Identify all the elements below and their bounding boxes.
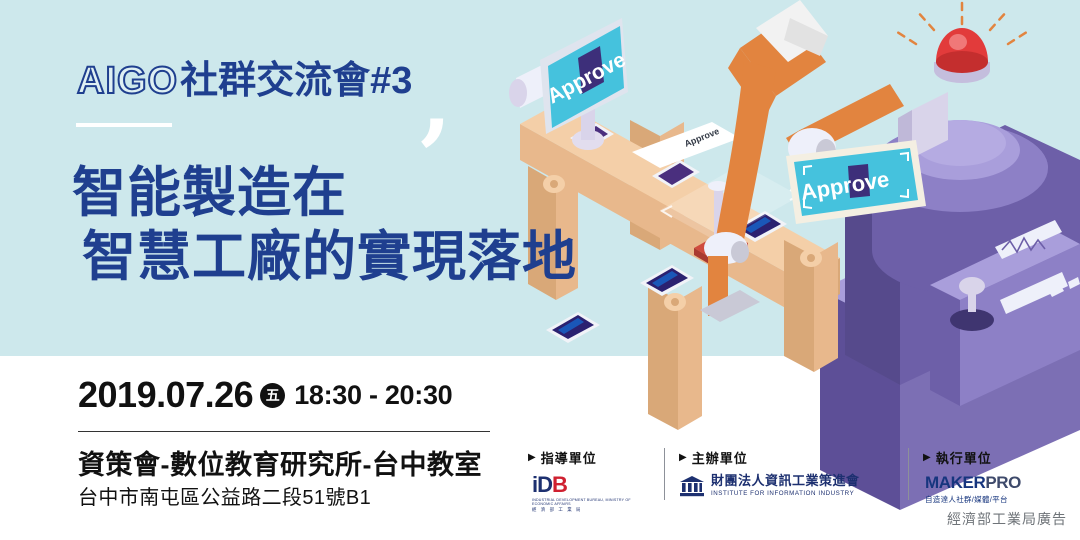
sponsor-group-executor: ▶ 執行單位 MAKERPRO 自造達人社群/媒體/平台 [923,448,1073,505]
page-title: 智能製造在 智慧工廠的實現落地 [72,162,577,289]
iii-name-cn: 財團法人資訊工業策進會 [711,474,860,488]
idb-wordmark: i D B [532,474,567,496]
sponsor-role-label: 指導單位 [541,448,597,467]
series-title-cjk: 社群交流會#3 [180,62,412,100]
event-weekday-badge: 五 [260,383,285,408]
idb-letter-b: B [552,474,567,496]
headline-line-1: 智能製造在 [72,162,577,226]
ad-disclaimer: 經濟部工業局廣告 [947,509,1067,529]
series-title: AIGO 社群交流會#3 [77,62,412,100]
idb-subtitle-en: INDUSTRIAL DEVELOPMENT BUREAU, MINISTRY … [532,498,650,506]
triangle-icon: ▶ [679,452,687,463]
sponsor-bar: ▶ 指導單位 i D B INDUSTRIAL DEVELOPMENT BURE… [528,448,1073,513]
makerpro-subtitle: 自造達人社群/媒體/平台 [925,494,1073,505]
idb-logo: i D B INDUSTRIAL DEVELOPMENT BUREAU, MIN… [528,474,650,513]
sponsor-role-executor: ▶ 執行單位 [923,448,1073,467]
iii-name-en: INSTITUTE FOR INFORMATION INDUSTRY [711,490,860,497]
sponsor-role-label: 主辦單位 [692,448,748,467]
sponsor-divider [664,448,665,500]
event-poster: Approve Approve [0,0,1080,540]
idb-subtitle-cn: 經 濟 部 工 業 局 [532,507,582,513]
sponsor-divider [908,448,909,500]
sponsor-role-advisor: ▶ 指導單位 [528,448,650,467]
sponsor-role-organizer: ▶ 主辦單位 [679,448,894,467]
event-address: 台中市南屯區公益路二段51號B1 [78,481,371,510]
triangle-icon: ▶ [923,452,931,463]
bank-building-icon [679,475,705,497]
event-time: 18:30 - 20:30 [294,380,452,411]
makerpro-logo: MAKERPRO 自造達人社群/媒體/平台 [923,474,1073,505]
idb-letter-d: D [537,474,552,496]
series-title-latin: AIGO [77,62,178,100]
makerpro-wordmark: MAKERPRO [925,474,1073,491]
headline-line-2: 智慧工廠的實現落地 [72,226,577,290]
makerpro-word-a: MAKER [925,473,985,492]
triangle-icon: ▶ [528,452,536,463]
iii-logo: 財團法人資訊工業策進會 INSTITUTE FOR INFORMATION IN… [679,474,894,497]
device-on-belt [546,312,600,343]
makerpro-word-b: PRO [985,473,1021,492]
detail-divider [78,431,490,432]
event-datetime: 2019.07.26 五 18:30 - 20:30 [78,374,452,416]
iii-text: 財團法人資訊工業策進會 INSTITUTE FOR INFORMATION IN… [711,474,860,497]
sponsor-group-advisor: ▶ 指導單位 i D B INDUSTRIAL DEVELOPMENT BURE… [528,448,650,513]
event-date: 2019.07.26 [78,374,253,416]
quote-glyph: , [420,62,452,140]
title-divider [76,123,172,127]
event-venue: 資策會-數位教育研究所-台中教室 [78,443,482,482]
sponsor-group-organizer: ▶ 主辦單位 財團法人資訊工業策進會 INSTITUTE FO [679,448,894,497]
sponsor-role-label: 執行單位 [936,448,992,467]
